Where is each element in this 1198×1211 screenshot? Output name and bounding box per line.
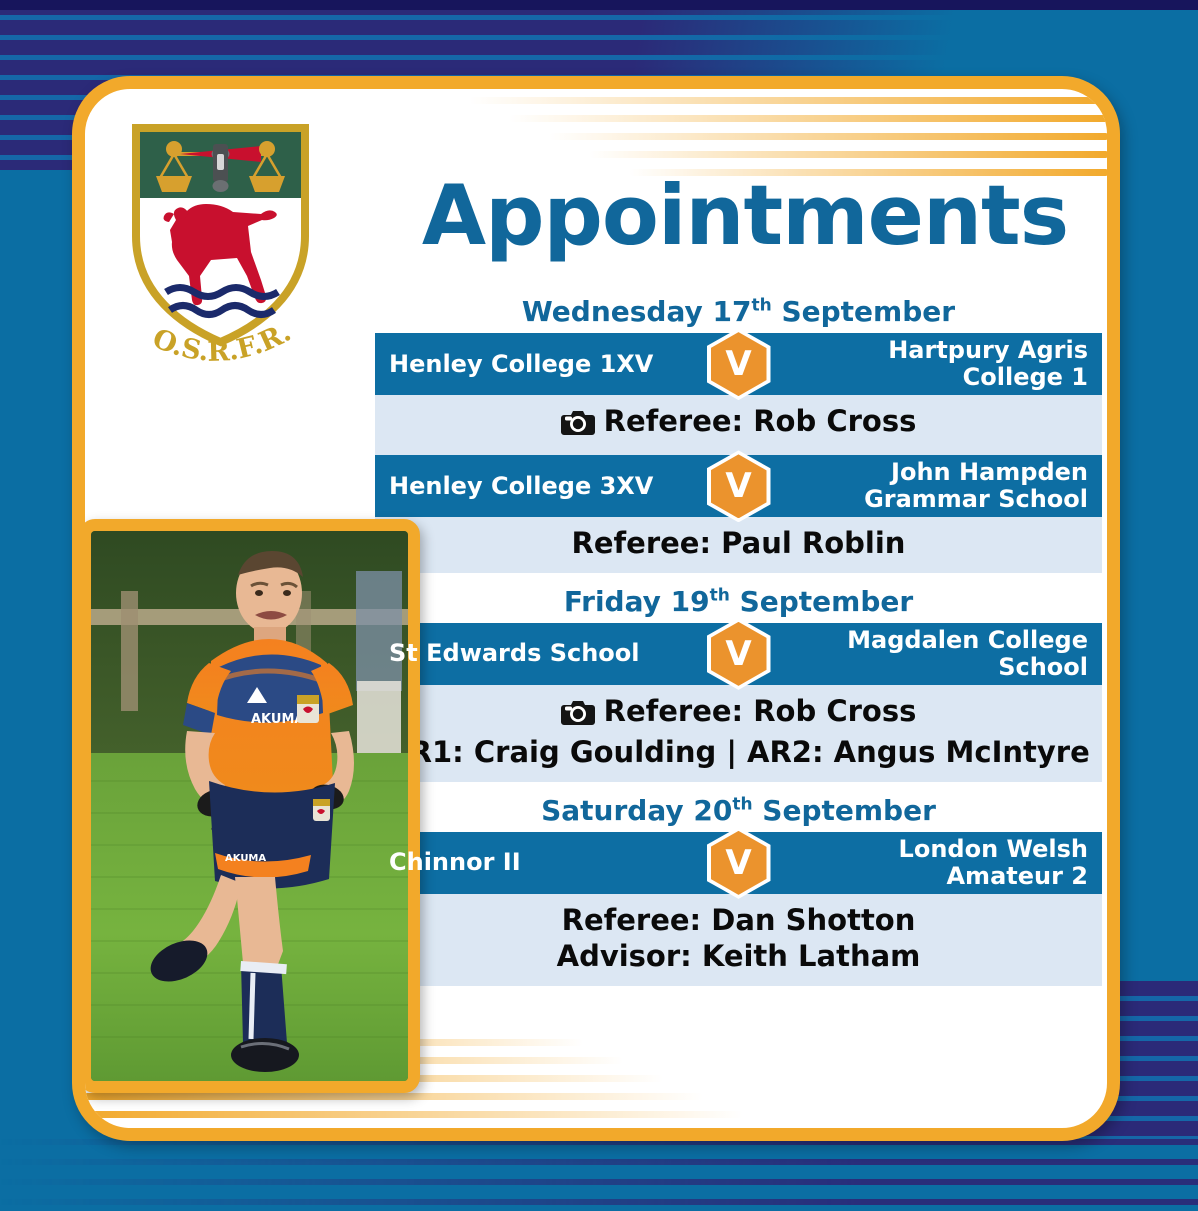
osrfr-crest-logo: O.S.R.F.R. — [118, 116, 323, 381]
away-team: Hartpury Agris College 1 — [739, 337, 1089, 391]
official-line: Referee: Paul Roblin — [385, 525, 1092, 562]
official-text: Referee: Rob Cross — [604, 404, 917, 438]
versus-label: V — [725, 846, 751, 880]
referee-running-photo: AKUMA AKUMA — [79, 519, 420, 1093]
home-team: St Edwards School — [389, 640, 739, 667]
fixture-bar[interactable]: St Edwards SchoolVMagdalen College Schoo… — [375, 623, 1102, 685]
poster-card: O.S.R.F.R. Appointments Wednesday 17th S… — [72, 76, 1120, 1141]
day-label: Friday 19 — [564, 585, 710, 618]
away-team: London Welsh Amateur 2 — [739, 836, 1089, 890]
versus-label: V — [725, 637, 751, 671]
day-heading: Wednesday 17th September — [375, 296, 1102, 328]
svg-text:AKUMA: AKUMA — [251, 712, 304, 727]
versus-hexagon-icon: V — [711, 622, 767, 686]
officials-panel: Referee: Dan ShottonAdvisor: Keith Latha… — [375, 894, 1102, 986]
day-block: Friday 19th SeptemberSt Edwards SchoolVM… — [375, 586, 1102, 782]
day-month: September — [753, 794, 936, 827]
day-ordinal-suffix: th — [732, 794, 752, 814]
officials-panel: Referee: Paul Roblin — [375, 517, 1102, 573]
official-line: Advisor: Keith Latham — [385, 938, 1092, 975]
official-text: AR1: Craig Goulding | AR2: Angus McIntyr… — [387, 735, 1090, 769]
official-text: Referee: Rob Cross — [604, 694, 917, 728]
day-month: September — [772, 295, 955, 328]
fixture-bar[interactable]: Henley College 1XVVHartpury Agris Colleg… — [375, 333, 1102, 395]
day-heading: Friday 19th September — [375, 586, 1102, 618]
officials-panel: Referee: Rob CrossAR1: Craig Goulding | … — [375, 685, 1102, 782]
background-top-cap — [0, 0, 1198, 10]
page-title: Appointments — [385, 167, 1105, 264]
day-block: Saturday 20th SeptemberChinnor IIVLondon… — [375, 795, 1102, 986]
day-month: September — [730, 585, 913, 618]
versus-hexagon-icon: V — [711, 831, 767, 895]
official-text: Advisor: Keith Latham — [557, 939, 921, 973]
day-block: Wednesday 17th SeptemberHenley College 1… — [375, 296, 1102, 573]
camera-icon — [561, 408, 595, 445]
versus-hexagon-icon: V — [711, 332, 767, 396]
camera-icon — [561, 698, 595, 735]
background-stripes-bottom — [0, 1139, 1198, 1211]
versus-label: V — [725, 469, 751, 503]
home-team: Henley College 1XV — [389, 351, 739, 378]
day-label: Wednesday 17 — [522, 295, 752, 328]
versus-label: V — [725, 347, 751, 381]
official-line: Referee: Dan Shotton — [385, 902, 1092, 939]
day-ordinal-suffix: th — [710, 585, 730, 605]
svg-text:AKUMA: AKUMA — [225, 853, 266, 864]
home-team: Chinnor II — [389, 849, 739, 876]
versus-hexagon-icon: V — [711, 454, 767, 518]
fixture-bar[interactable]: Henley College 3XVVJohn Hampden Grammar … — [375, 455, 1102, 517]
day-label: Saturday 20 — [541, 794, 732, 827]
official-line: Referee: Rob Cross — [385, 693, 1092, 735]
away-team: Magdalen College School — [739, 627, 1089, 681]
fixture-bar[interactable]: Chinnor IIVLondon Welsh Amateur 2 — [375, 832, 1102, 894]
home-team: Henley College 3XV — [389, 473, 739, 500]
appointments-schedule: Wednesday 17th SeptemberHenley College 1… — [375, 296, 1102, 999]
official-text: Referee: Paul Roblin — [572, 526, 906, 560]
official-text: Referee: Dan Shotton — [562, 903, 916, 937]
day-heading: Saturday 20th September — [375, 795, 1102, 827]
official-line: AR1: Craig Goulding | AR2: Angus McIntyr… — [385, 734, 1092, 771]
official-line: Referee: Rob Cross — [385, 403, 1092, 445]
away-team: John Hampden Grammar School — [739, 459, 1089, 513]
officials-panel: Referee: Rob Cross — [375, 395, 1102, 456]
day-ordinal-suffix: th — [751, 296, 771, 316]
